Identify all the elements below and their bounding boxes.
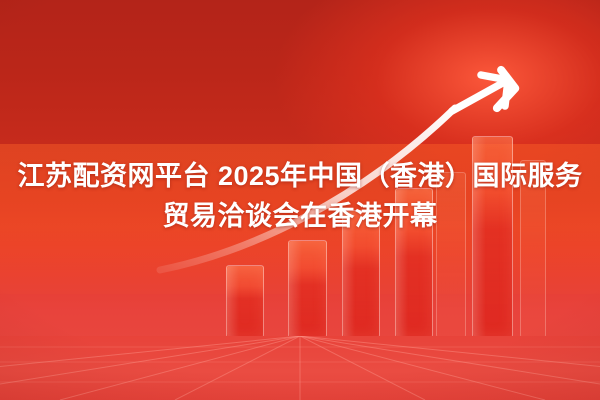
title-line-1: 江苏配资网平台 2025年中国（香港）国际服务 — [14, 156, 586, 196]
page-title: 江苏配资网平台 2025年中国（香港）国际服务 贸易洽谈会在香港开幕 — [0, 156, 600, 236]
bar-1 — [226, 265, 264, 338]
bar-sheen — [227, 266, 239, 337]
banner-image: 江苏配资网平台 2025年中国（香港）国际服务 贸易洽谈会在香港开幕 — [0, 0, 600, 400]
floor-grid-lines — [0, 336, 600, 400]
title-line-2: 贸易洽谈会在香港开幕 — [14, 196, 586, 236]
bar-sheen — [289, 241, 302, 337]
perspective-grid-floor — [0, 336, 600, 400]
bar-2 — [288, 240, 327, 338]
